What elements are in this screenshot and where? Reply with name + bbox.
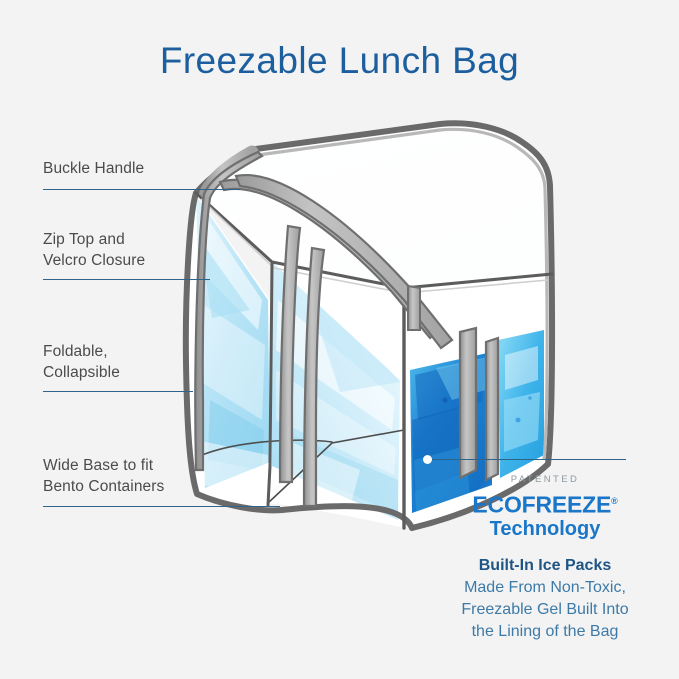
infographic-canvas: Freezable Lunch Bag <box>0 0 679 679</box>
callout-rule-foldable-collapsible <box>43 391 193 392</box>
callout-label: Wide Base to fit Bento Containers <box>43 455 164 497</box>
patented-label: PATENTED <box>420 474 670 485</box>
ice-pack-headline: Built-In Ice Packs <box>420 555 670 577</box>
ecofreeze-technology-label: Technology <box>420 518 670 541</box>
ice-pack-description-line: Freezable Gel Built Into <box>420 599 670 621</box>
ecofreeze-callout: PATENTED ECOFREEZE® Technology Built-In … <box>420 474 670 643</box>
registered-trademark-icon: ® <box>611 496 617 506</box>
callout-wide-base: Wide Base to fit Bento Containers <box>43 455 164 497</box>
ecofreeze-wordmark: ECOFREEZE® <box>420 489 670 518</box>
ice-pack-description-line: the Lining of the Bag <box>420 621 670 643</box>
callout-label: Zip Top and Velcro Closure <box>43 229 145 271</box>
callout-foldable-collapsible: Foldable, Collapsible <box>43 341 120 383</box>
callout-zip-top-velcro: Zip Top and Velcro Closure <box>43 229 145 271</box>
callout-rule-buckle-handle <box>43 189 240 190</box>
callout-label: Foldable, Collapsible <box>43 341 120 383</box>
ecofreeze-leader-line <box>432 459 626 460</box>
ecofreeze-anchor-dot <box>423 455 432 464</box>
callout-buckle-handle: Buckle Handle <box>43 158 144 179</box>
callout-label: Buckle Handle <box>43 158 144 179</box>
callout-rule-wide-base <box>43 506 280 507</box>
callout-rule-zip-top-velcro <box>43 279 210 280</box>
ecofreeze-wordmark-text: ECOFREEZE <box>472 492 611 518</box>
ice-pack-description-line: Made From Non-Toxic, <box>420 577 670 599</box>
